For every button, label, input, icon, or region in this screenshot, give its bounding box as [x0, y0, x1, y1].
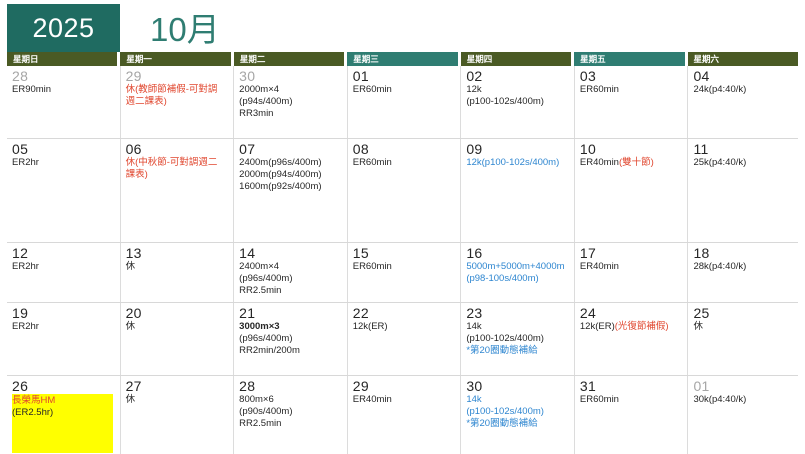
year-label: 2025: [32, 15, 94, 42]
day-cell-17[interactable]: 17ER40min: [574, 243, 685, 302]
day-number: 05: [12, 141, 113, 157]
day-cell-15[interactable]: 15ER60min: [347, 243, 458, 302]
day-cell-09[interactable]: 0912k(p100-102s/400m): [460, 139, 571, 242]
event-line: 14k: [466, 394, 567, 406]
day-number: 13: [126, 245, 227, 261]
event-line: 2000m(p94s/400m): [239, 169, 340, 181]
day-events: 12k(ER)(光復節補假): [580, 321, 681, 373]
day-cell-07[interactable]: 072400m(p96s/400m)2000m(p94s/400m)1600m(…: [233, 139, 344, 242]
day-number: 14: [239, 245, 340, 261]
event-line: 12k: [466, 84, 567, 96]
day-cell-08[interactable]: 08ER60min: [347, 139, 458, 242]
event-line: RR2.5min: [239, 285, 340, 297]
day-events: 14k(p100-102s/400m)*第20圈動態補給: [466, 321, 567, 373]
day-number: 09: [466, 141, 567, 157]
event-line: (p100-102s/400m): [466, 406, 567, 418]
weekday-header-3: 星期三: [347, 52, 457, 66]
event-line: ER40min: [580, 261, 681, 273]
day-number: 24: [580, 305, 681, 321]
event-line: ER60min: [353, 261, 454, 273]
day-events: ER2hr: [12, 261, 113, 300]
day-cell-03[interactable]: 03ER60min: [574, 66, 685, 138]
event-line: 長榮馬HM: [12, 395, 113, 407]
event-segment: (光復節補假): [615, 321, 669, 332]
day-number: 29: [353, 378, 454, 394]
day-events: 24k(p4:40/k): [693, 84, 794, 136]
day-cell-12[interactable]: 12ER2hr: [7, 243, 117, 302]
event-segment: ER40min: [580, 157, 619, 168]
event-line: ER60min: [353, 84, 454, 96]
day-events: 800m×6(p90s/400m)RR2.5min: [239, 394, 340, 452]
day-cell-30[interactable]: 3014k(p100-102s/400m)*第20圈動態補給: [460, 376, 571, 454]
day-number: 26: [12, 378, 113, 394]
event-line: (p96s/400m): [239, 273, 340, 285]
day-cell-24[interactable]: 2412k(ER)(光復節補假): [574, 303, 685, 375]
day-number: 12: [12, 245, 113, 261]
day-events: 12k(ER): [353, 321, 454, 373]
day-number: 16: [466, 245, 567, 261]
week-row: 19ER2hr20休213000m×3(p96s/400m)RR2min/200…: [7, 302, 798, 375]
day-number: 29: [126, 68, 227, 84]
event-line: 休(中秋節-可對調週二課表): [126, 157, 227, 181]
day-number: 22: [353, 305, 454, 321]
day-cell-18[interactable]: 1828k(p4:40/k): [687, 243, 798, 302]
day-cell-19[interactable]: 19ER2hr: [7, 303, 117, 375]
event-line: ER2hr: [12, 157, 113, 169]
week-row: 05ER2hr06休(中秋節-可對調週二課表)072400m(p96s/400m…: [7, 138, 798, 242]
event-segment: 12k(ER): [580, 321, 615, 332]
day-number: 31: [580, 378, 681, 394]
day-events: ER60min: [353, 84, 454, 136]
month-label: 10月: [150, 13, 220, 52]
day-cell-25[interactable]: 25休: [687, 303, 798, 375]
day-events: 5000m+5000m+4000m(p98-100s/400m): [466, 261, 567, 300]
day-events: 休: [126, 261, 227, 300]
event-line: 2400m(p96s/400m): [239, 157, 340, 169]
day-events: ER40min(雙十節): [580, 157, 681, 240]
weekday-header-5: 星期五: [574, 52, 684, 66]
year-badge: 2025: [7, 4, 120, 52]
event-line: (p100-102s/400m): [466, 96, 567, 108]
weekday-header-row: 星期日星期一星期二星期三星期四星期五星期六: [7, 52, 798, 66]
day-events: ER60min: [580, 84, 681, 136]
day-events: ER60min: [353, 157, 454, 240]
day-cell-31[interactable]: 31ER60min: [574, 376, 685, 454]
day-events: 12k (p100-102s/400m): [466, 84, 567, 136]
day-events: ER2hr: [12, 321, 113, 373]
event-line: 25k(p4:40/k): [693, 157, 794, 169]
day-number: 04: [693, 68, 794, 84]
event-line: ER40min: [353, 394, 454, 406]
day-events: 2400m×4(p96s/400m)RR2.5min: [239, 261, 340, 300]
calendar-root: 2025 10月 星期日星期一星期二星期三星期四星期五星期六 28ER90min…: [0, 0, 805, 450]
day-cell-20[interactable]: 20休: [120, 303, 231, 375]
day-number: 15: [353, 245, 454, 261]
day-number: 11: [693, 141, 794, 157]
day-events: 28k(p4:40/k): [693, 261, 794, 300]
event-line: ER60min: [580, 84, 681, 96]
day-cell-14[interactable]: 142400m×4(p96s/400m)RR2.5min: [233, 243, 344, 302]
day-events: 12k(p100-102s/400m): [466, 157, 567, 240]
day-cell-27[interactable]: 27休: [120, 376, 231, 454]
event-line: 休: [693, 321, 794, 333]
event-line: 12k(ER)(光復節補假): [580, 321, 681, 333]
day-cell-29[interactable]: 29ER40min: [347, 376, 458, 454]
day-events: ER40min: [580, 261, 681, 300]
day-number: 20: [126, 305, 227, 321]
day-events: 25k(p4:40/k): [693, 157, 794, 240]
day-number: 23: [466, 305, 567, 321]
day-events: ER60min: [353, 261, 454, 300]
week-row: 26長榮馬HM(ER2.5hr)27休28800m×6(p90s/400m)RR…: [7, 375, 798, 454]
day-number: 21: [239, 305, 340, 321]
event-line: ER40min(雙十節): [580, 157, 681, 169]
weekday-header-4: 星期四: [461, 52, 571, 66]
day-number: 19: [12, 305, 113, 321]
week-row: 12ER2hr13休142400m×4(p96s/400m)RR2.5min15…: [7, 242, 798, 302]
day-events: 14k(p100-102s/400m)*第20圈動態補給: [466, 394, 567, 452]
weekday-header-2: 星期二: [234, 52, 344, 66]
event-line: RR2.5min: [239, 418, 340, 430]
weekday-header-6: 星期六: [688, 52, 798, 66]
day-events: ER60min: [580, 394, 681, 452]
day-number: 18: [693, 245, 794, 261]
event-line: 3000m×3: [239, 321, 340, 333]
event-line: ER2hr: [12, 261, 113, 273]
day-cell-26[interactable]: 26長榮馬HM(ER2.5hr): [7, 376, 117, 454]
event-line: ER60min: [353, 157, 454, 169]
day-events: 2000m×4(p94s/400m)RR3min: [239, 84, 340, 136]
day-cell-28[interactable]: 28ER90min: [7, 66, 117, 138]
day-number: 01: [353, 68, 454, 84]
day-cell-13[interactable]: 13休: [120, 243, 231, 302]
calendar-titlebar: 2025 10月: [7, 0, 798, 52]
event-line: 休(教師節補假-可對調週二課表): [126, 84, 227, 108]
day-events: 休: [126, 321, 227, 373]
event-line: 休: [126, 394, 227, 406]
day-events: ER2hr: [12, 157, 113, 240]
event-line: ER90min: [12, 84, 113, 96]
event-line: 2000m×4: [239, 84, 340, 96]
day-cell-21[interactable]: 213000m×3(p96s/400m)RR2min/200m: [233, 303, 344, 375]
event-line: (ER2.5hr): [12, 407, 113, 419]
event-line: 24k(p4:40/k): [693, 84, 794, 96]
day-events: ER40min: [353, 394, 454, 452]
event-line: (p94s/400m): [239, 96, 340, 108]
day-cell-05[interactable]: 05ER2hr: [7, 139, 117, 242]
day-number: 30: [466, 378, 567, 394]
day-number: 30: [239, 68, 340, 84]
event-line: 12k(p100-102s/400m): [466, 157, 567, 169]
event-line: *第20圈動態補給: [466, 418, 567, 430]
day-cell-22[interactable]: 2212k(ER): [347, 303, 458, 375]
event-line: 12k(ER): [353, 321, 454, 333]
day-number: 28: [239, 378, 340, 394]
day-number: 07: [239, 141, 340, 157]
day-events: ER90min: [12, 84, 113, 136]
week-row: 28ER90min29休(教師節補假-可對調週二課表)302000m×4(p94…: [7, 66, 798, 138]
event-line: (p98-100s/400m): [466, 273, 567, 285]
event-line: 14k: [466, 321, 567, 333]
event-line: 1600m(p92s/400m): [239, 181, 340, 193]
event-line: 30k(p4:40/k): [693, 394, 794, 406]
day-cell-16[interactable]: 165000m+5000m+4000m(p98-100s/400m): [460, 243, 571, 302]
day-cell-02[interactable]: 0212k (p100-102s/400m): [460, 66, 571, 138]
event-line: RR3min: [239, 108, 340, 120]
day-number: 02: [466, 68, 567, 84]
day-cell-23[interactable]: 2314k(p100-102s/400m)*第20圈動態補給: [460, 303, 571, 375]
day-number: 27: [126, 378, 227, 394]
event-segment: (雙十節): [619, 157, 654, 168]
day-cell-01[interactable]: 0130k(p4:40/k): [687, 376, 798, 454]
day-cell-01[interactable]: 01ER60min: [347, 66, 458, 138]
day-number: 01: [693, 378, 794, 394]
event-line: 28k(p4:40/k): [693, 261, 794, 273]
day-events: 3000m×3(p96s/400m)RR2min/200m: [239, 321, 340, 373]
day-cell-30[interactable]: 302000m×4(p94s/400m)RR3min: [233, 66, 344, 138]
day-events: 休(教師節補假-可對調週二課表): [126, 84, 227, 136]
day-number: 08: [353, 141, 454, 157]
calendar-weeks: 28ER90min29休(教師節補假-可對調週二課表)302000m×4(p94…: [7, 66, 798, 454]
day-cell-10[interactable]: 10ER40min(雙十節): [574, 139, 685, 242]
event-line: 5000m+5000m+4000m: [466, 261, 567, 273]
event-line: (p100-102s/400m): [466, 333, 567, 345]
event-line: RR2min/200m: [239, 345, 340, 357]
event-line: 休: [126, 261, 227, 273]
day-events: 休(中秋節-可對調週二課表): [126, 157, 227, 240]
day-cell-06[interactable]: 06休(中秋節-可對調週二課表): [120, 139, 231, 242]
day-number: 10: [580, 141, 681, 157]
day-number: 06: [126, 141, 227, 157]
event-line: 800m×6: [239, 394, 340, 406]
day-events-highlighted: 長榮馬HM(ER2.5hr): [12, 394, 113, 453]
day-number: 03: [580, 68, 681, 84]
day-events: 2400m(p96s/400m)2000m(p94s/400m)1600m(p9…: [239, 157, 340, 240]
day-cell-28[interactable]: 28800m×6(p90s/400m)RR2.5min: [233, 376, 344, 454]
day-cell-29[interactable]: 29休(教師節補假-可對調週二課表): [120, 66, 231, 138]
weekday-header-0: 星期日: [7, 52, 117, 66]
day-number: 28: [12, 68, 113, 84]
event-line: ER2hr: [12, 321, 113, 333]
event-line: 休: [126, 321, 227, 333]
event-line: (p90s/400m): [239, 406, 340, 418]
event-line: *第20圈動態補給: [466, 345, 567, 357]
event-line: 2400m×4: [239, 261, 340, 273]
event-line: (p96s/400m): [239, 333, 340, 345]
event-line: ER60min: [580, 394, 681, 406]
day-cell-11[interactable]: 1125k(p4:40/k): [687, 139, 798, 242]
day-number: 25: [693, 305, 794, 321]
weekday-header-1: 星期一: [120, 52, 230, 66]
day-number: 17: [580, 245, 681, 261]
day-cell-04[interactable]: 0424k(p4:40/k): [687, 66, 798, 138]
day-events: 休: [693, 321, 794, 373]
day-events: 休: [126, 394, 227, 452]
day-events: 30k(p4:40/k): [693, 394, 794, 452]
